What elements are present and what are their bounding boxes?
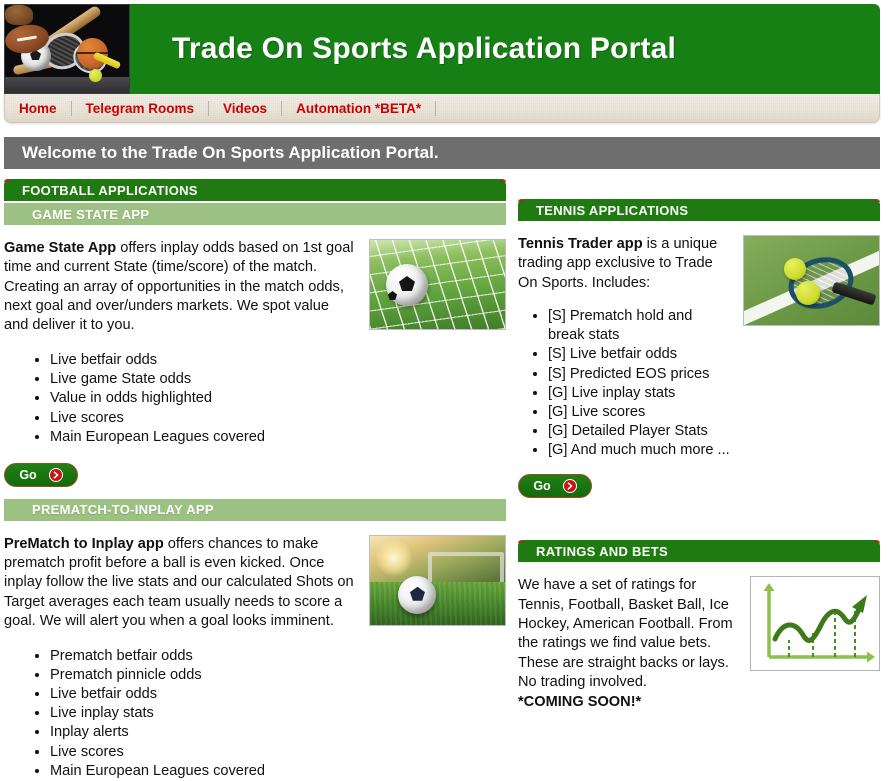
go-button-label: Go	[533, 480, 550, 493]
column-gap	[506, 179, 518, 781]
left-column: FOOTBALL APPLICATIONS GAME STATE APP Gam…	[4, 179, 506, 781]
game-state-app-paragraph: Game State App offers inplay odds based …	[4, 239, 355, 335]
site-title-bar: Trade On Sports Application Portal	[130, 4, 880, 94]
welcome-heading: Welcome to the Trade On Sports Applicati…	[22, 143, 439, 163]
game-state-app-title: GAME STATE APP	[32, 207, 149, 222]
main-navigation: Home Telegram Rooms Videos Automation *B…	[4, 94, 880, 123]
tennis-app-feature-list: [S] Prematch hold and break stats [S] Li…	[518, 307, 731, 460]
tennis-go-button[interactable]: Go	[518, 474, 592, 498]
prematch-to-inplay-app-lead: PreMatch to Inplay app	[4, 536, 164, 552]
list-item: [G] Live scores	[548, 403, 731, 422]
prematch-to-inplay-app-title: PREMATCH-TO-INPLAY APP	[32, 502, 214, 517]
go-button-label: Go	[19, 469, 36, 482]
grass-background	[370, 582, 505, 625]
site-logo-image	[4, 4, 130, 94]
tennis-applications-title: TENNIS APPLICATIONS	[536, 203, 688, 218]
tennis-app-text: Tennis Trader app is a unique trading ap…	[518, 235, 743, 460]
list-item: Live scores	[50, 743, 355, 762]
list-item: Prematch pinnicle odds	[50, 666, 355, 685]
tennis-ball-icon	[796, 281, 820, 305]
list-item: Value in odds highlighted	[50, 389, 355, 408]
tennis-applications-header: TENNIS APPLICATIONS	[518, 199, 880, 221]
game-state-app-image	[369, 239, 506, 330]
list-item: [G] And much much more ...	[548, 441, 731, 460]
tennis-go-wrapper: Go	[518, 474, 880, 498]
nav-item-automation-beta[interactable]: Automation *BETA*	[282, 95, 435, 122]
ratings-and-bets-text: We have a set of ratings for Tennis, Foo…	[518, 576, 736, 712]
game-state-go-button[interactable]: Go	[4, 463, 78, 487]
rising-trend-chart-svg	[751, 577, 879, 670]
logo-floor	[5, 77, 129, 93]
prematch-to-inplay-app-body: PreMatch to Inplay app offers chances to…	[4, 535, 506, 781]
soccer-ball-icon	[398, 576, 436, 614]
list-item: Prematch betfair odds	[50, 647, 355, 666]
soccer-ball-icon	[386, 264, 428, 306]
page-root: Trade On Sports Application Portal Home …	[0, 4, 888, 767]
prematch-to-inplay-app-feature-list: Prematch betfair odds Prematch pinnicle …	[4, 647, 355, 781]
status-badge: *COMING SOON!*	[518, 693, 736, 712]
soccer-pitch-sunset-photo	[370, 536, 505, 625]
tennis-ball-icon	[89, 69, 102, 82]
nav-item-home[interactable]: Home	[5, 95, 71, 122]
game-state-go-wrapper: Go	[4, 463, 506, 487]
site-title: Trade On Sports Application Portal	[172, 32, 676, 66]
sun-icon	[376, 540, 412, 576]
list-item: Live betfair odds	[50, 685, 355, 704]
right-column: TENNIS APPLICATIONS Tennis Trader app is…	[518, 179, 880, 781]
site-header: Trade On Sports Application Portal	[4, 4, 880, 94]
game-state-app-header: GAME STATE APP	[4, 203, 506, 225]
basketball-icon	[77, 38, 108, 69]
prematch-to-inplay-app-image	[369, 535, 506, 626]
ratings-and-bets-body: We have a set of ratings for Tennis, Foo…	[518, 576, 880, 712]
list-item: Main European Leagues covered	[50, 428, 355, 447]
arrow-right-icon	[49, 468, 63, 482]
list-item: [S] Predicted EOS prices	[548, 365, 731, 384]
list-item: Live inplay stats	[50, 704, 355, 723]
soccer-net-photo	[370, 240, 505, 329]
game-state-app-text: Game State App offers inplay odds based …	[4, 239, 369, 447]
football-applications-header: FOOTBALL APPLICATIONS	[4, 179, 506, 201]
tennis-court-photo	[744, 236, 879, 325]
tennis-app-image	[743, 235, 880, 326]
arrow-right-icon	[563, 479, 577, 493]
content-columns: FOOTBALL APPLICATIONS GAME STATE APP Gam…	[4, 179, 880, 781]
list-item: Inplay alerts	[50, 723, 355, 742]
ratings-and-bets-header: RATINGS AND BETS	[518, 540, 880, 562]
game-state-app-feature-list: Live betfair odds Live game State odds V…	[4, 351, 355, 447]
baseball-glove-icon	[5, 5, 33, 25]
prematch-to-inplay-app-paragraph: PreMatch to Inplay app offers chances to…	[4, 535, 355, 631]
tennis-app-body: Tennis Trader app is a unique trading ap…	[518, 235, 880, 460]
ratings-and-bets-title: RATINGS AND BETS	[536, 544, 668, 559]
list-item: Live scores	[50, 409, 355, 428]
ratings-and-bets-description: We have a set of ratings for Tennis, Foo…	[518, 576, 736, 692]
list-item: [S] Prematch hold and break stats	[548, 307, 731, 345]
list-item: Main European Leagues covered	[50, 762, 355, 781]
prematch-to-inplay-app-text: PreMatch to Inplay app offers chances to…	[4, 535, 369, 781]
list-item: Live betfair odds	[50, 351, 355, 370]
nav-item-telegram-rooms[interactable]: Telegram Rooms	[72, 95, 209, 122]
tennis-app-paragraph: Tennis Trader app is a unique trading ap…	[518, 235, 731, 293]
football-applications-title: FOOTBALL APPLICATIONS	[22, 183, 198, 198]
welcome-banner: Welcome to the Trade On Sports Applicati…	[4, 137, 880, 169]
nav-item-videos[interactable]: Videos	[209, 95, 281, 122]
nav-separator	[435, 101, 436, 116]
tennis-app-lead: Tennis Trader app	[518, 236, 643, 252]
prematch-to-inplay-app-header: PREMATCH-TO-INPLAY APP	[4, 499, 506, 521]
game-state-app-lead: Game State App	[4, 240, 116, 256]
game-state-app-body: Game State App offers inplay odds based …	[4, 239, 506, 447]
list-item: [S] Live betfair odds	[548, 345, 731, 364]
list-item: [G] Detailed Player Stats	[548, 422, 731, 441]
tennis-ball-icon	[784, 258, 806, 280]
ratings-chart-icon	[750, 576, 880, 671]
list-item: Live game State odds	[50, 370, 355, 389]
list-item: [G] Live inplay stats	[548, 384, 731, 403]
